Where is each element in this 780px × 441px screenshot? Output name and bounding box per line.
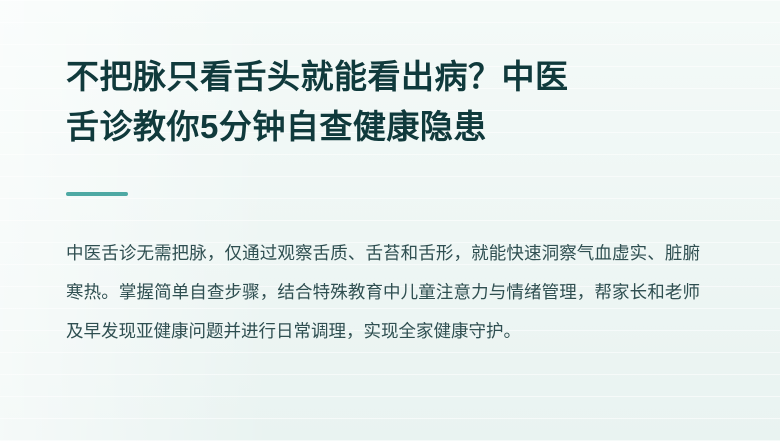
slide-canvas: 不把脉只看舌头就能看出病？中医 舌诊教你5分钟自查健康隐患 中医舌诊无需把脉，仅… <box>0 0 780 441</box>
page-title: 不把脉只看舌头就能看出病？中医 舌诊教你5分钟自查健康隐患 <box>66 52 716 152</box>
title-divider <box>66 192 128 196</box>
body-paragraph: 中医舌诊无需把脉，仅通过观察舌质、舌苔和舌形，就能快速洞察气血虚实、脏腑寒热。掌… <box>66 234 700 351</box>
content-block: 不把脉只看舌头就能看出病？中医 舌诊教你5分钟自查健康隐患 中医舌诊无需把脉，仅… <box>66 52 716 369</box>
